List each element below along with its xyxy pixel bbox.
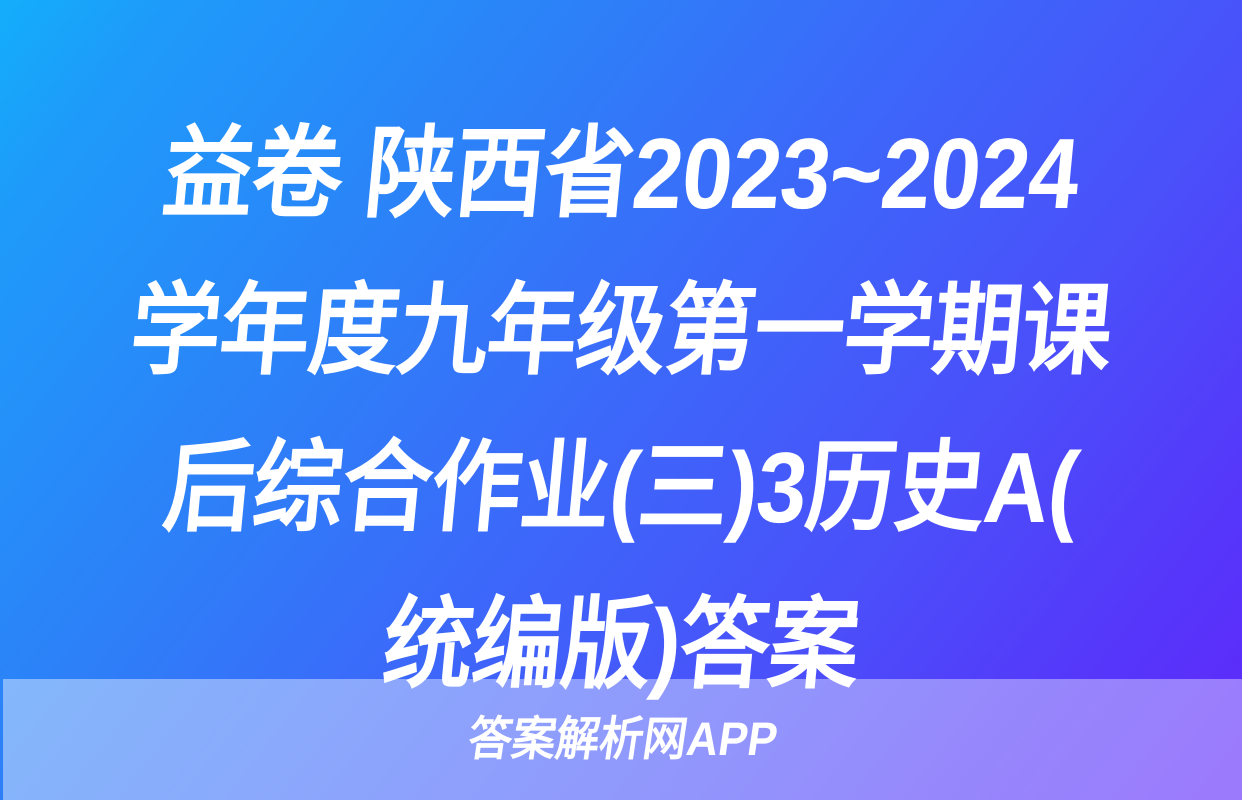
page-title: 益卷 陕西省2023~2024 学年度九年级第一学期课 后综合作业(三)3历史A… [0,96,1242,724]
app-promo-banner-label: 答案解析网APP [465,715,781,764]
app-promo-banner[interactable]: 答案解析网APP [3,679,1242,800]
promo-card: 益卷 陕西省2023~2024 学年度九年级第一学期课 后综合作业(三)3历史A… [0,0,1242,800]
title-line-1: 益卷 陕西省2023~2024 [121,96,1120,253]
title-line-2: 学年度九年级第一学期课 [121,253,1120,410]
title-line-3: 后综合作业(三)3历史A( [121,410,1120,567]
